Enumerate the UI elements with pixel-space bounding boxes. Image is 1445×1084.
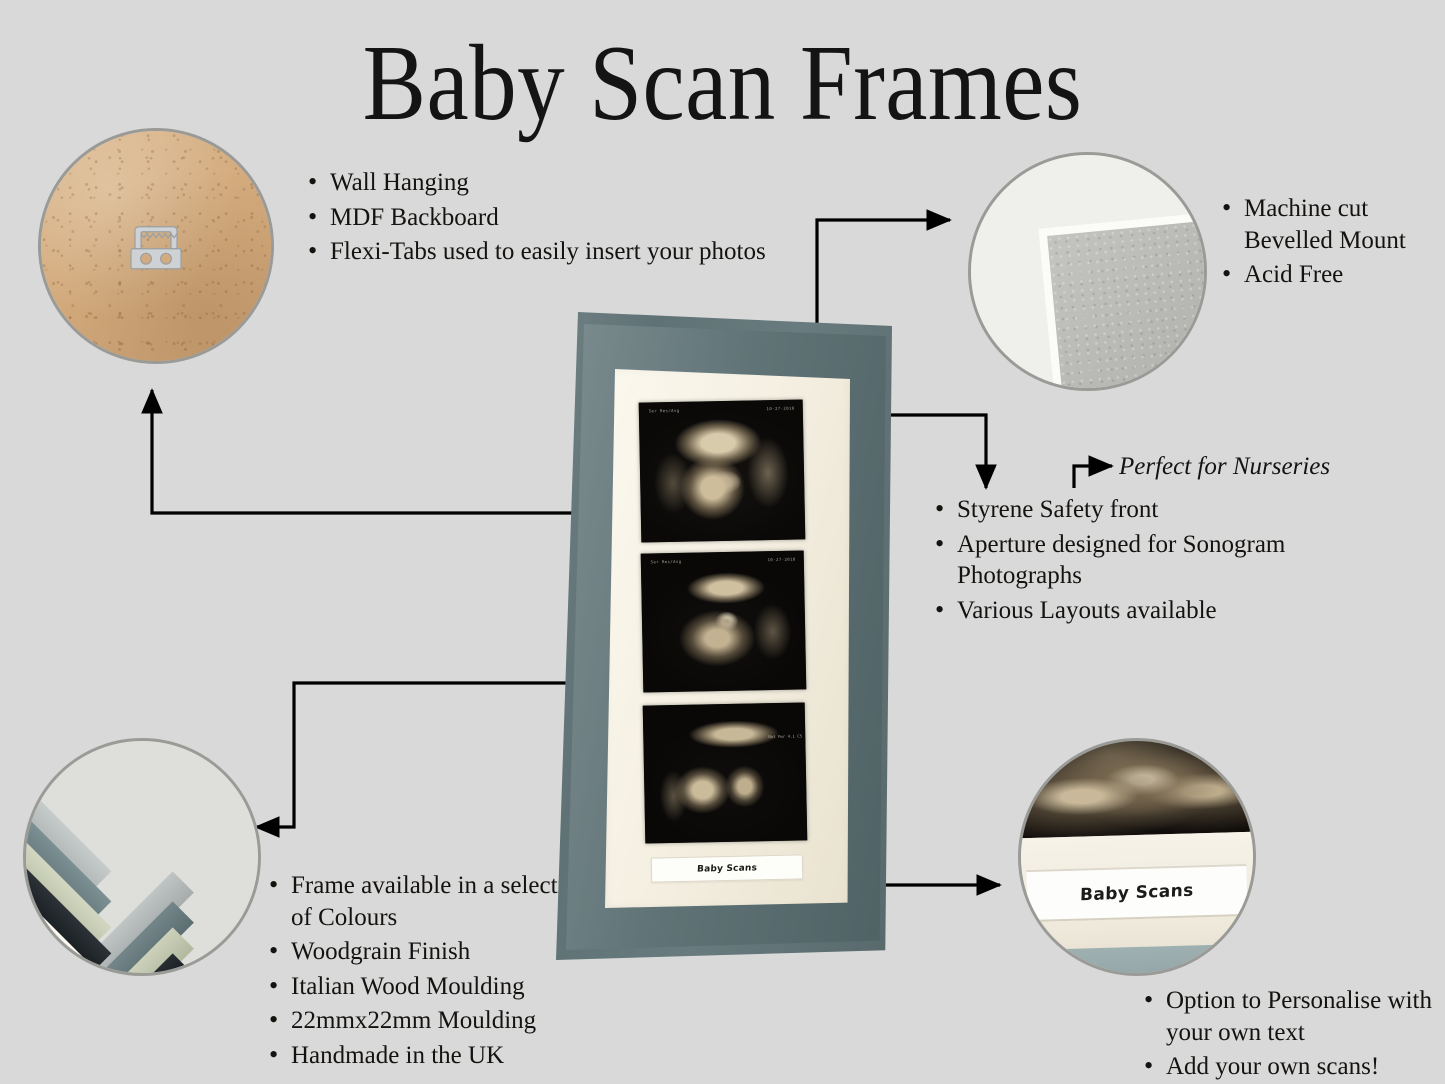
scan-aperture-1: Ser Res/Avg 10-27-2018	[639, 399, 806, 542]
front-features-list: Styrene Safety front Aperture designed f…	[931, 494, 1361, 629]
connector-backboard	[152, 390, 597, 513]
scan-aperture-2: Ser Res/Avg 10-27-2018	[641, 550, 807, 692]
backboard-features-list: Wall Hanging MDF Backboard Flexi-Tabs us…	[304, 167, 774, 271]
frame-label-slot: Baby Scans	[651, 854, 803, 882]
connector-colours	[256, 683, 586, 827]
sawtooth-hanger-icon	[122, 215, 190, 283]
nurseries-note: Perfect for Nurseries	[1119, 453, 1330, 481]
list-item: Handmade in the UK	[265, 1040, 595, 1072]
scan-overlay-text-2: Ser Res/Avg 10-27-2018	[641, 550, 807, 692]
baby-scan-frame-product: Ser Res/Avg 10-27-2018 Ser Res/Avg 10-27…	[556, 312, 892, 960]
scan-edge	[1018, 738, 1256, 838]
moulding-features-list: Frame available in a selection of Colour…	[265, 870, 595, 1074]
frame-colour-swatches-photo	[23, 738, 261, 976]
scan-aperture-3: Nat Pwr 4.1 C5	[643, 702, 808, 843]
swatch-dark-brown	[23, 917, 261, 976]
mount-surface	[971, 155, 1204, 388]
mount-features-list: Machine cut Bevelled Mount Acid Free	[1218, 193, 1445, 294]
frame-label-text: Baby Scans	[697, 863, 758, 874]
personalise-features-list: Option to Personalise with your own text…	[1140, 985, 1445, 1084]
scan-overlay-text-3: Nat Pwr 4.1 C5	[643, 702, 808, 843]
personalise-slot-text: Baby Scans	[1080, 881, 1194, 906]
list-item: 22mmx22mm Moulding	[265, 1005, 595, 1037]
list-item: Option to Personalise with your own text	[1140, 985, 1445, 1048]
list-item: Wall Hanging	[304, 167, 774, 199]
list-item: Machine cut Bevelled Mount	[1218, 193, 1445, 256]
personalise-slot: Baby Scans	[1026, 864, 1247, 922]
bevelled-mount-photo	[968, 152, 1207, 391]
connector-nurseries	[1074, 466, 1112, 488]
list-item: Various Layouts available	[931, 595, 1361, 627]
scan-overlay-text-1: Ser Res/Avg 10-27-2018	[639, 399, 806, 542]
mdf-backboard-photo	[38, 128, 274, 364]
list-item: Aperture designed for Sonogram Photograp…	[931, 529, 1361, 592]
list-item: Flexi-Tabs used to easily insert your ph…	[304, 236, 774, 268]
infographic-canvas: Baby Scan Frames Wall Hanging MDF Backbo…	[0, 0, 1445, 1084]
list-item: Frame available in a selection of Colour…	[265, 870, 595, 933]
list-item: Styrene Safety front	[931, 494, 1361, 526]
list-item: Acid Free	[1218, 259, 1445, 291]
list-item: MDF Backboard	[304, 202, 774, 234]
page-title: Baby Scan Frames	[87, 26, 1359, 143]
list-item: Woodgrain Finish	[265, 936, 595, 968]
list-item: Italian Wood Moulding	[265, 971, 595, 1003]
mount-bevel-core	[1047, 211, 1207, 391]
personalised-label-photo: Baby Scans	[1018, 738, 1256, 976]
list-item: Add your own scans!	[1140, 1051, 1445, 1083]
